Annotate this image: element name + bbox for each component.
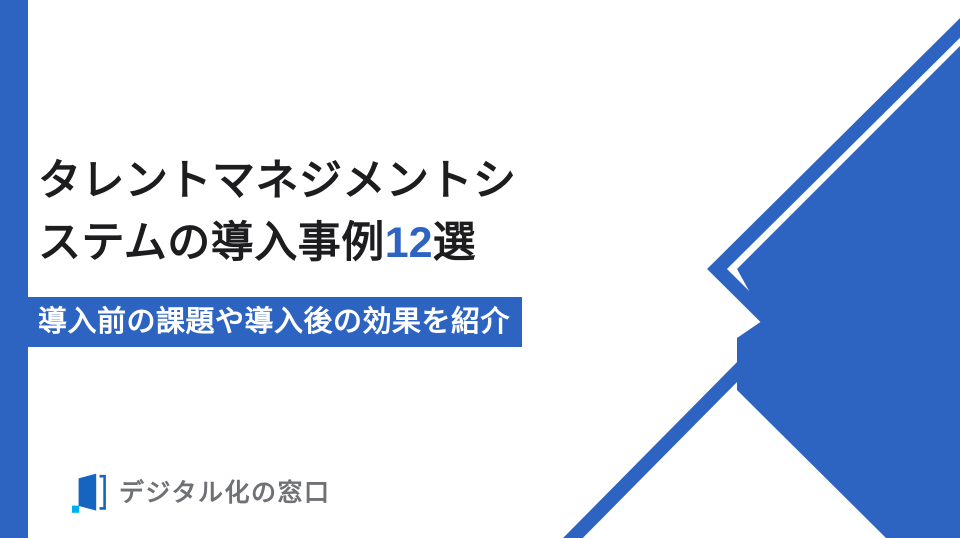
headline-line-2: ステムの導入事例12選 xyxy=(28,212,628,274)
door-frame-bracket xyxy=(100,476,105,508)
headline-line-2-prefix: ステムの導入事例 xyxy=(38,219,385,267)
headline-block: タレントマネジメントシ ステムの導入事例12選 xyxy=(28,150,628,274)
subtitle-text: 導入前の課題や導入後の効果を紹介 xyxy=(38,308,510,337)
thumbnail-canvas: タレントマネジメントシ ステムの導入事例12選 導入前の課題や導入後の効果を紹介… xyxy=(0,0,960,538)
filled-chevron-shape xyxy=(737,186,960,538)
brand-logo-text: デジタル化の窓口 xyxy=(119,481,331,506)
headline-count-number: 12 xyxy=(385,219,433,267)
headline-line-1: タレントマネジメントシ xyxy=(28,150,628,212)
outline-chevron-shape xyxy=(717,20,960,518)
left-accent-bar xyxy=(0,0,28,538)
filled-chevron-body xyxy=(737,46,960,538)
headline-line-2-suffix: 選 xyxy=(433,219,477,267)
brand-logo: デジタル化の窓口 xyxy=(70,472,331,514)
door-handle-square xyxy=(72,506,79,513)
open-door-window-icon xyxy=(70,472,108,514)
door-panel xyxy=(79,474,97,511)
outline-up-chevron-shape xyxy=(566,364,960,538)
subtitle-highlight-bar: 導入前の課題や導入後の効果を紹介 xyxy=(28,297,522,347)
